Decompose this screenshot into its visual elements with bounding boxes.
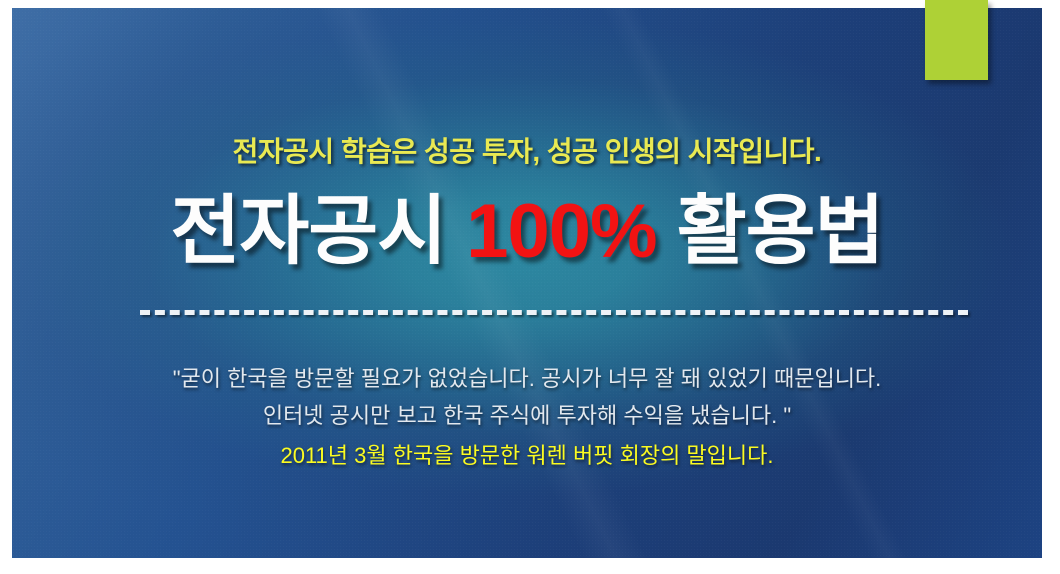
quote-block: "굳이 한국을 방문할 필요가 없었습니다. 공시가 너무 잘 돼 있었기 때문… — [12, 360, 1042, 474]
quote-line-1: "굳이 한국을 방문할 필요가 없었습니다. 공시가 너무 잘 돼 있었기 때문… — [12, 360, 1042, 397]
dashed-divider — [140, 310, 968, 315]
presentation-canvas: 전자공시 학습은 성공 투자, 성공 인생의 시작입니다. 전자공시 100% … — [0, 0, 1060, 574]
title-highlight-100-percent: 100% — [466, 189, 656, 274]
quote-attribution: 2011년 3월 한국을 방문한 워렌 버핏 회장의 말입니다. — [12, 437, 1042, 474]
title-part-2: 활용법 — [657, 189, 884, 274]
slide-surface[interactable]: 전자공시 학습은 성공 투자, 성공 인생의 시작입니다. 전자공시 100% … — [12, 8, 1042, 558]
slide-content: 전자공시 학습은 성공 투자, 성공 인생의 시작입니다. 전자공시 100% … — [12, 8, 1042, 558]
slide-title: 전자공시 100% 활용법 — [12, 194, 1042, 270]
quote-line-2: 인터넷 공시만 보고 한국 주식에 투자해 수익을 냈습니다. " — [12, 397, 1042, 434]
title-part-1: 전자공시 — [170, 189, 466, 274]
slide-subtitle: 전자공시 학습은 성공 투자, 성공 인생의 시작입니다. — [12, 130, 1042, 170]
green-accent-block — [925, 0, 988, 80]
